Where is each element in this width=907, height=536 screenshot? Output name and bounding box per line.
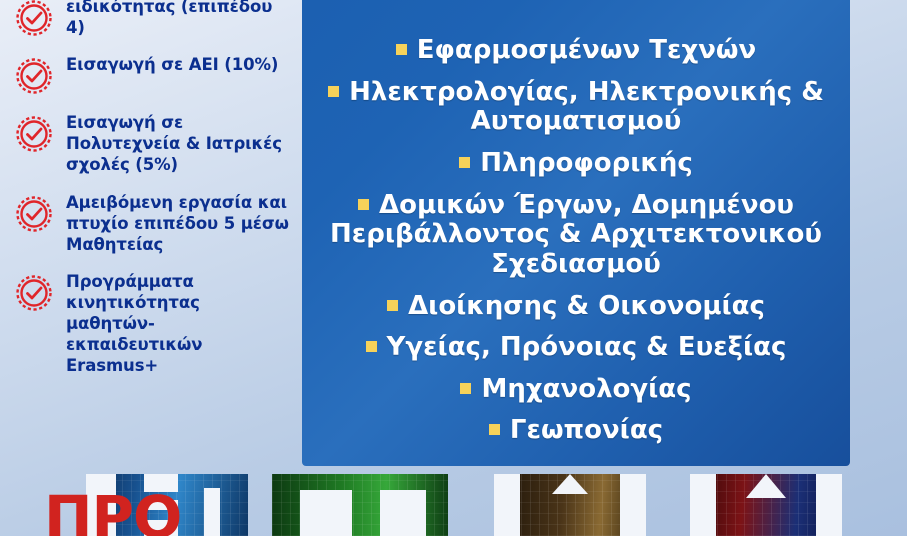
square-bullet-icon bbox=[489, 424, 500, 435]
benefits-list: ειδικότητας (επιπέδου 4) Εισαγωγή σε ΑΕΙ… bbox=[0, 0, 300, 480]
list-item-label: Εισαγωγή σε ΑΕΙ (10%) bbox=[66, 54, 278, 75]
sector-item: Υγείας, Πρόνοιας & Ευεξίας bbox=[316, 333, 836, 363]
sector-label: Πληροφορικής bbox=[480, 148, 693, 178]
list-item-label: Εισαγωγή σε Πολυτεχνεία & Ιατρικές σχολέ… bbox=[66, 112, 290, 175]
letter-cutout bbox=[816, 474, 842, 536]
red-rosette-check-icon bbox=[14, 56, 54, 96]
sector-item: Μηχανολογίας bbox=[316, 375, 836, 405]
sector-item: Δομικών Έργων, Δομημένου Περιβάλλοντος &… bbox=[316, 191, 836, 280]
sector-label: Εφαρμοσμένων Τεχνών bbox=[417, 35, 757, 65]
square-bullet-icon bbox=[366, 341, 377, 352]
red-rosette-check-icon bbox=[14, 114, 54, 154]
dna-green-photo bbox=[272, 474, 448, 536]
square-bullet-icon bbox=[459, 157, 470, 168]
sector-item: Ηλεκτρολογίας, Ηλεκτρονικής & Αυτοματισμ… bbox=[316, 78, 836, 137]
sector-label: Γεωπονίας bbox=[510, 415, 663, 445]
list-item: Εισαγωγή σε ΑΕΙ (10%) bbox=[14, 54, 290, 96]
list-item: Προγράμματα κινητικότητας μαθητών-εκπαιδ… bbox=[14, 271, 290, 377]
square-bullet-icon bbox=[328, 86, 339, 97]
letter-cutout bbox=[380, 490, 426, 536]
square-bullet-icon bbox=[396, 44, 407, 55]
sector-label: Δομικών Έργων, Δομημένου Περιβάλλοντος &… bbox=[330, 190, 822, 279]
sector-item: Διοίκησης & Οικονομίας bbox=[316, 292, 836, 322]
bottom-image-strip: ΠΡΟ bbox=[0, 464, 907, 536]
red-blue-abstract-photo bbox=[690, 474, 842, 536]
sector-item: Γεωπονίας bbox=[316, 416, 836, 446]
letter-cutout bbox=[620, 474, 646, 536]
sectors-panel: Εφαρμοσμένων Τεχνών Ηλεκτρολογίας, Ηλεκτ… bbox=[302, 0, 850, 466]
letter-cutout bbox=[300, 490, 352, 536]
square-bullet-icon bbox=[358, 199, 369, 210]
letter-cutout bbox=[690, 474, 716, 536]
red-rosette-check-icon bbox=[14, 194, 54, 234]
red-rosette-check-icon bbox=[14, 273, 54, 313]
letter-cutout bbox=[204, 488, 220, 536]
sector-item: Εφαρμοσμένων Τεχνών bbox=[316, 36, 836, 66]
sector-item: Πληροφορικής bbox=[316, 149, 836, 179]
sector-label: Μηχανολογίας bbox=[481, 374, 691, 404]
list-item-label: Αμειβόμενη εργασία και πτυχίο επιπέδου 5… bbox=[66, 192, 290, 255]
gears-mechanical-photo bbox=[494, 474, 646, 536]
list-item-label: ειδικότητας (επιπέδου 4) bbox=[66, 0, 290, 38]
pro-word-fragment: ΠΡΟ bbox=[44, 494, 181, 536]
square-bullet-icon bbox=[387, 300, 398, 311]
red-rosette-check-icon bbox=[14, 0, 54, 38]
sector-label: Διοίκησης & Οικονομίας bbox=[408, 291, 765, 321]
list-item: Εισαγωγή σε Πολυτεχνεία & Ιατρικές σχολέ… bbox=[14, 112, 290, 175]
sector-label: Υγείας, Πρόνοιας & Ευεξίας bbox=[387, 332, 787, 362]
list-item: ειδικότητας (επιπέδου 4) bbox=[14, 0, 290, 38]
letter-cutout bbox=[494, 474, 520, 536]
square-bullet-icon bbox=[460, 383, 471, 394]
list-item: Αμειβόμενη εργασία και πτυχίο επιπέδου 5… bbox=[14, 192, 290, 255]
list-item-label: Προγράμματα κινητικότητας μαθητών-εκπαιδ… bbox=[66, 271, 290, 377]
poster-root: ειδικότητας (επιπέδου 4) Εισαγωγή σε ΑΕΙ… bbox=[0, 0, 907, 536]
sector-label: Ηλεκτρολογίας, Ηλεκτρονικής & Αυτοματισμ… bbox=[349, 77, 824, 137]
